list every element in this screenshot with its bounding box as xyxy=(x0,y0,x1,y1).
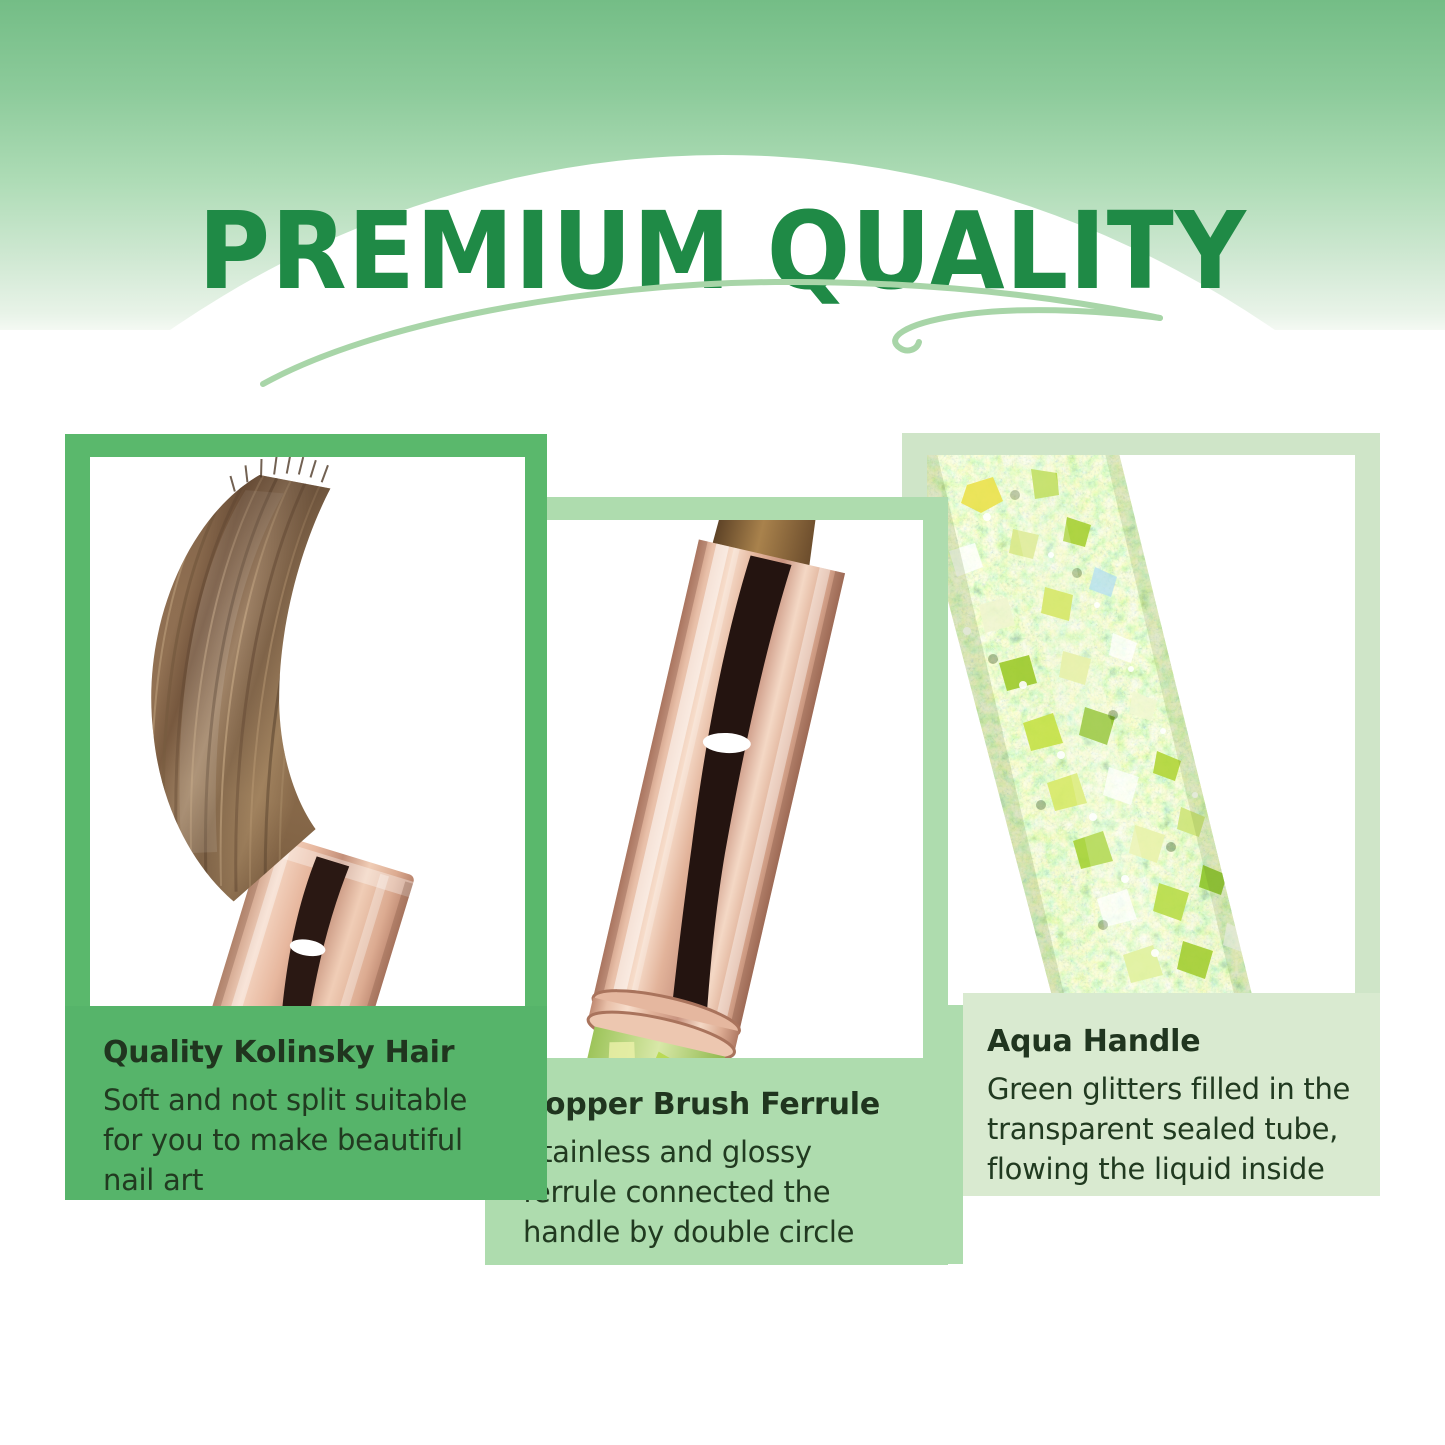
brush-head-photo xyxy=(90,457,525,1006)
card-body: Stainless and glossy ferrule connected t… xyxy=(523,1132,910,1252)
feature-card-kolinsky-hair: Quality Kolinsky Hair Soft and not split… xyxy=(65,434,547,1200)
copper-ferrule-photo xyxy=(511,520,923,1058)
card-body: Green glitters filled in the transparent… xyxy=(987,1069,1356,1189)
glitter-handle-photo xyxy=(927,455,1355,1005)
card-text-panel: Quality Kolinsky Hair Soft and not split… xyxy=(65,1006,547,1200)
page-title: PREMIUM QUALITY xyxy=(0,196,1445,308)
card-text-panel: Copper Brush Ferrule Stainless and gloss… xyxy=(485,1058,948,1265)
card-text-panel: Aqua Handle Green glitters filled in the… xyxy=(963,993,1380,1196)
title-block: PREMIUM QUALITY xyxy=(0,196,1445,336)
card-heading: Quality Kolinsky Hair xyxy=(103,1036,509,1070)
feature-card-copper-ferrule: Copper Brush Ferrule Stainless and gloss… xyxy=(485,497,948,1265)
feature-card-aqua-handle: Aqua Handle Green glitters filled in the… xyxy=(902,433,1380,1264)
card-heading: Aqua Handle xyxy=(987,1025,1356,1059)
card-heading: Copper Brush Ferrule xyxy=(523,1088,910,1122)
card-body: Soft and not split suitable for you to m… xyxy=(103,1080,509,1200)
